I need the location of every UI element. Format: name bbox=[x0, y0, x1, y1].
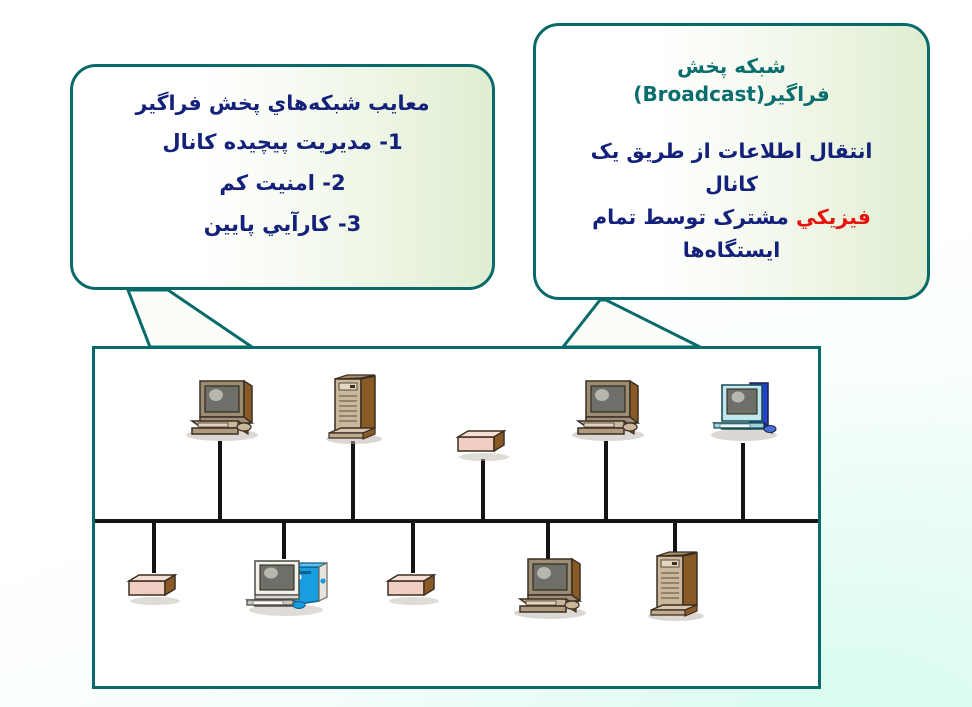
slide-canvas: معایب شبکه‌هاي پخش فراگیر 1- مدیریت پیچی… bbox=[0, 0, 972, 707]
callout-right-body-highlight: فیزیکي bbox=[796, 205, 871, 229]
node-tower-server-bottom-1[interactable] bbox=[643, 550, 709, 622]
bus-stub-top-3 bbox=[481, 459, 485, 521]
tower-server-icon bbox=[643, 550, 709, 622]
callout-disadvantages: معایب شبکه‌هاي پخش فراگیر 1- مدیریت پیچی… bbox=[70, 64, 495, 290]
callout-left-item-2: 2- امنیت کم bbox=[99, 163, 466, 204]
desktop-computer-icon bbox=[564, 377, 648, 443]
bus-stub-top-2 bbox=[351, 441, 355, 521]
bus-stub-bottom-3 bbox=[411, 521, 415, 573]
bus-stub-top-5 bbox=[741, 443, 745, 521]
bus-stub-bottom-1 bbox=[152, 521, 156, 573]
callout-definition: شبکه پخش فراگیر(Broadcast) انتقال اطلاعا… bbox=[533, 23, 930, 300]
tower-server-icon bbox=[321, 373, 387, 445]
callout-right-tail bbox=[563, 300, 700, 347]
callout-right-title-line1: شبکه پخش bbox=[562, 52, 901, 80]
callout-right-body: انتقال اطلاعات از طریق یک کانال فیزیکي م… bbox=[562, 135, 901, 268]
node-desktop-computer-top-2[interactable] bbox=[564, 377, 648, 443]
network-device-icon bbox=[454, 427, 514, 461]
bus-stub-bottom-4 bbox=[546, 521, 550, 559]
callout-left-item-1: 1- مدیریت پیچیده کانال bbox=[99, 122, 466, 163]
desktop-computer-blue-icon bbox=[241, 555, 331, 617]
desktop-computer-icon bbox=[506, 555, 590, 621]
node-desktop-computer-bottom-1[interactable] bbox=[506, 555, 590, 621]
node-laptop-top-1[interactable] bbox=[704, 377, 784, 443]
callout-right-body-line2: فیزیکي مشترک توسط تمام ایستگاه‌ها bbox=[562, 201, 901, 267]
shared-bus-line bbox=[95, 519, 818, 523]
node-network-device-bottom-2[interactable] bbox=[384, 571, 444, 605]
callout-right-body-line1: انتقال اطلاعات از طریق یک کانال bbox=[562, 135, 901, 201]
callout-right-body-rest: مشترک توسط تمام ایستگاه‌ها bbox=[592, 205, 796, 262]
network-diagram-box bbox=[92, 346, 821, 689]
node-tower-server-top-1[interactable] bbox=[321, 373, 387, 445]
bus-stub-top-4 bbox=[604, 441, 608, 521]
callout-left-item-3: 3- کارآیي پایین bbox=[99, 204, 466, 245]
laptop-computer-icon bbox=[704, 377, 784, 443]
node-network-device-bottom-1[interactable] bbox=[125, 571, 185, 605]
callout-left-heading: معایب شبکه‌هاي پخش فراگیر bbox=[99, 85, 466, 122]
bus-stub-top-1 bbox=[218, 441, 222, 521]
network-device-icon bbox=[125, 571, 185, 605]
callout-left-tail bbox=[128, 290, 252, 347]
bus-stub-bottom-2 bbox=[282, 521, 286, 559]
callout-right-title-line2: فراگیر(Broadcast) bbox=[562, 80, 901, 108]
node-desktop-computer-top-1[interactable] bbox=[178, 377, 262, 443]
network-device-icon bbox=[384, 571, 444, 605]
node-desktop-computer-blue-bottom-1[interactable] bbox=[241, 555, 331, 617]
node-network-device-top-1[interactable] bbox=[454, 427, 514, 461]
desktop-computer-icon bbox=[178, 377, 262, 443]
